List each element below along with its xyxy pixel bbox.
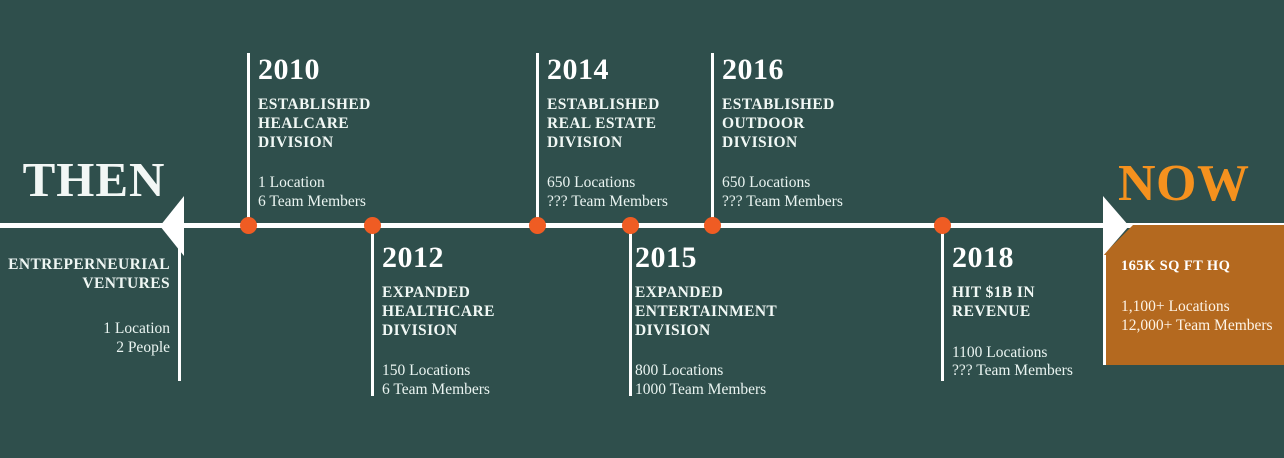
now-label: NOW	[1118, 158, 1250, 210]
now-stat-people: 12,000+ Team Members	[1121, 317, 1273, 336]
milestone-dot-2018	[934, 217, 951, 234]
milestone-dot-2010	[240, 217, 257, 234]
milestone-stem-2016	[711, 53, 714, 225]
milestone-stat-people: 1000 Team Members	[635, 381, 810, 400]
milestone-year: 2014	[547, 55, 692, 85]
milestone-2015: 2015 EXPANDED ENTERTAINMENT DIVISION 800…	[635, 243, 810, 400]
milestone-stem-2010	[247, 53, 250, 225]
milestone-title: ESTABLISHED OUTDOOR DIVISION	[722, 96, 867, 152]
milestone-title: ESTABLISHED HEALCARE DIVISION	[258, 96, 388, 152]
milestone-stem-2018	[941, 226, 944, 381]
milestone-title: ESTABLISHED REAL ESTATE DIVISION	[547, 96, 692, 152]
then-label: THEN	[10, 155, 178, 204]
milestone-stem-2012	[371, 226, 374, 396]
now-title: 165K SQ FT HQ	[1121, 258, 1230, 275]
milestone-stats: 650 Locations ??? Team Members	[722, 174, 867, 212]
milestone-stats: 800 Locations 1000 Team Members	[635, 362, 810, 400]
then-block: ENTREPERNEURIAL VENTURES 1 Location 2 Pe…	[0, 255, 170, 358]
milestone-stat-people: 6 Team Members	[382, 381, 532, 400]
milestone-year: 2016	[722, 55, 867, 85]
then-stat-locations: 1 Location	[0, 320, 170, 339]
milestone-dot-2015	[622, 217, 639, 234]
milestone-stats: 150 Locations 6 Team Members	[382, 362, 532, 400]
timeline-axis	[0, 223, 1284, 228]
milestone-stat-locations: 650 Locations	[547, 174, 692, 193]
milestone-stat-people: 6 Team Members	[258, 193, 388, 212]
milestone-2012: 2012 EXPANDED HEALTHCARE DIVISION 150 Lo…	[382, 243, 532, 400]
milestone-year: 2010	[258, 55, 388, 85]
milestone-stats: 1 Location 6 Team Members	[258, 174, 388, 212]
milestone-title: EXPANDED HEALTHCARE DIVISION	[382, 284, 532, 340]
milestone-2010: 2010 ESTABLISHED HEALCARE DIVISION 1 Loc…	[258, 55, 388, 212]
milestone-stat-locations: 1 Location	[258, 174, 388, 193]
milestone-dot-2014	[529, 217, 546, 234]
now-arrow-icon	[1103, 196, 1129, 256]
milestone-stat-locations: 650 Locations	[722, 174, 867, 193]
milestone-2016: 2016 ESTABLISHED OUTDOOR DIVISION 650 Lo…	[722, 55, 867, 212]
milestone-stat-locations: 1100 Locations	[952, 344, 1102, 363]
milestone-dot-2016	[704, 217, 721, 234]
milestone-dot-2012	[364, 217, 381, 234]
milestone-stat-people: ??? Team Members	[952, 362, 1102, 381]
milestone-stats: 1100 Locations ??? Team Members	[952, 344, 1102, 382]
then-stat-people: 2 People	[0, 339, 170, 358]
now-stat-locations: 1,100+ Locations	[1121, 298, 1273, 317]
milestone-stem-2014	[536, 53, 539, 225]
milestone-2018: 2018 HIT $1B IN REVENUE 1100 Locations ?…	[952, 243, 1102, 381]
then-title: ENTREPERNEURIAL VENTURES	[0, 255, 170, 294]
milestone-stat-locations: 800 Locations	[635, 362, 810, 381]
timeline-infographic: THEN ENTREPERNEURIAL VENTURES 1 Location…	[0, 0, 1284, 458]
now-stats: 1,100+ Locations 12,000+ Team Members	[1121, 298, 1273, 336]
milestone-stem-2015	[629, 226, 632, 396]
milestone-title: HIT $1B IN REVENUE	[952, 284, 1102, 322]
milestone-year: 2018	[952, 243, 1102, 273]
then-divider-rule	[178, 226, 181, 381]
milestone-year: 2015	[635, 243, 810, 273]
now-panel	[1103, 225, 1284, 365]
now-divider-rule	[1103, 255, 1106, 365]
milestone-stat-people: ??? Team Members	[547, 193, 692, 212]
milestone-stat-people: ??? Team Members	[722, 193, 867, 212]
milestone-2014: 2014 ESTABLISHED REAL ESTATE DIVISION 65…	[547, 55, 692, 212]
milestone-stat-locations: 150 Locations	[382, 362, 532, 381]
then-stats: 1 Location 2 People	[0, 320, 170, 358]
milestone-stats: 650 Locations ??? Team Members	[547, 174, 692, 212]
milestone-year: 2012	[382, 243, 532, 273]
milestone-title: EXPANDED ENTERTAINMENT DIVISION	[635, 284, 810, 340]
